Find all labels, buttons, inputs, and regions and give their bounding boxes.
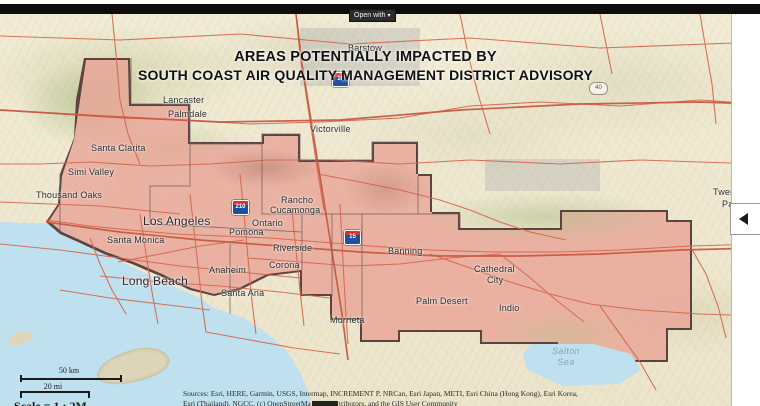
place-label-long-beach: Long Beach	[122, 274, 188, 288]
place-label-pomona: Pomona	[229, 227, 264, 237]
chevron-down-icon: ▾	[388, 13, 391, 19]
place-label-ontario: Ontario	[252, 218, 283, 228]
place-label-palmdale: Palmdale	[168, 109, 207, 119]
place-label-lancaster: Lancaster	[163, 95, 204, 105]
scale-bar: 50 km 20 mi Scale = 1 : 2M	[14, 366, 122, 406]
map-title-line2: SOUTH COAST AIR QUALITY MANAGEMENT DISTR…	[0, 66, 731, 84]
place-label-rancho: Rancho	[281, 195, 313, 205]
place-label-riverside: Riverside	[273, 243, 312, 253]
map-screenshot: Open with▾ Salton Sea	[0, 0, 760, 406]
place-label-cucamonga: Cucamonga	[270, 205, 320, 215]
map-attribution: Sources: Esri, HERE, Garmin, USGS, Inter…	[183, 389, 728, 406]
place-label-corona: Corona	[269, 260, 300, 270]
panel-collapse-button[interactable]	[730, 203, 760, 235]
place-label-simi-valley: Simi Valley	[68, 167, 114, 177]
place-label-cathedral: Cathedral	[474, 264, 515, 274]
open-with-label: Open with	[354, 12, 386, 19]
place-label-santa-clarita: Santa Clarita	[91, 143, 146, 153]
place-label-los-angeles: Los Angeles	[143, 214, 211, 228]
place-label-victorville: Victorville	[310, 124, 351, 134]
highway-shield-15[interactable]: 15	[344, 230, 361, 245]
attribution-line-2a: Esri (Thailand), NGCC, (c) OpenStreetMa	[183, 399, 311, 406]
attribution-line-1: Sources: Esri, HERE, Garmin, USGS, Inter…	[183, 389, 728, 399]
open-with-button[interactable]: Open with▾	[349, 9, 396, 22]
scale-km-bar	[20, 375, 122, 382]
place-label-anaheim: Anaheim	[209, 265, 246, 275]
place-label-palm-desert: Palm Desert	[416, 296, 468, 306]
attribution-line-2b: tributors, and the GIS User Community	[339, 399, 458, 406]
scale-mi-label: 20 mi	[20, 382, 86, 391]
place-label-santa-monica: Santa Monica	[107, 235, 164, 245]
place-label-indio: Indio	[499, 303, 520, 313]
redaction-block	[312, 401, 338, 406]
highway-shield-210[interactable]: 210	[232, 200, 249, 215]
place-label-thousand-oaks: Thousand Oaks	[36, 190, 102, 200]
place-label-murrieta: Murrieta	[330, 315, 365, 325]
place-label-santa-ana: Santa Ana	[221, 288, 264, 298]
map-title-line1: AREAS POTENTIALLY IMPACTED BY	[0, 48, 731, 66]
map-canvas[interactable]: Salton Sea	[0, 14, 760, 406]
scale-ratio-label: Scale = 1 : 2M	[14, 399, 122, 406]
chevron-left-icon	[739, 213, 748, 225]
scale-km-label: 50 km	[20, 366, 118, 375]
place-label-cathedral-city: City	[487, 275, 503, 285]
map-title: AREAS POTENTIALLY IMPACTED BY SOUTH COAS…	[0, 48, 731, 84]
attribution-line-2: Esri (Thailand), NGCC, (c) OpenStreetMat…	[183, 399, 728, 406]
scale-mi-bar	[20, 391, 90, 398]
place-label-banning: Banning	[388, 246, 422, 256]
